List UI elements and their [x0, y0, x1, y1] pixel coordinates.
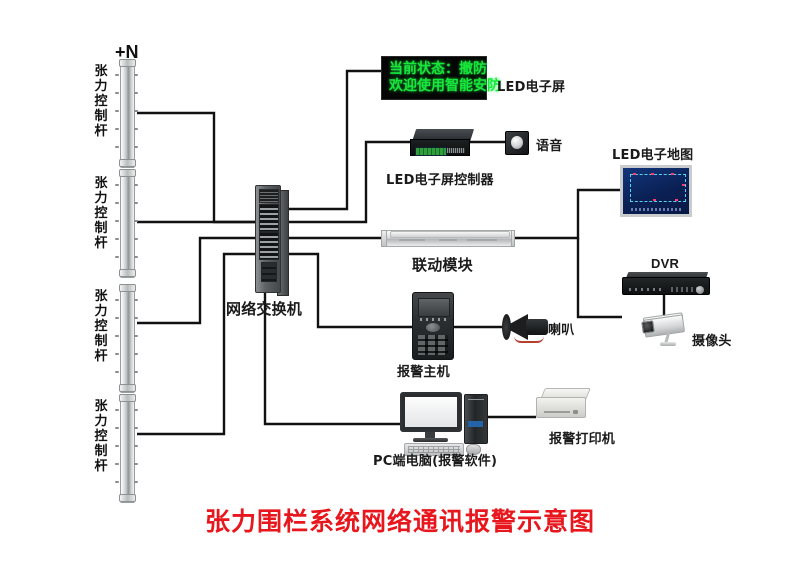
surveillance-camera[interactable] — [636, 315, 692, 349]
tension-control-pole-3-label: 张力控制杆 — [93, 289, 109, 364]
alarm-host-screen — [418, 298, 450, 317]
linkage-body — [386, 230, 512, 247]
printer-paper-slot — [544, 411, 570, 413]
alarm-printer-label: 报警打印机 — [549, 428, 615, 447]
controller-face — [410, 139, 470, 156]
pc-tower — [464, 394, 488, 444]
tension-control-pole-1-label: 张力控制杆 — [93, 64, 109, 139]
camera-base — [660, 342, 676, 346]
dvr-label: DVR — [651, 256, 679, 271]
pc-workstation[interactable] — [400, 392, 496, 456]
horn-barrel — [526, 319, 548, 335]
led-screen-controller[interactable] — [410, 129, 472, 155]
alarm-host-keypad[interactable] — [418, 335, 448, 355]
dvr-status-leds — [629, 288, 665, 291]
linkage-module[interactable] — [386, 228, 510, 248]
pc-monitor-foot — [413, 438, 448, 442]
voice-module[interactable] — [505, 131, 529, 155]
dvr-front-panel — [622, 277, 710, 295]
led-electronic-map[interactable] — [620, 165, 692, 217]
pole-graphic — [118, 60, 135, 166]
tension-control-pole-2-label: 张力控制杆 — [93, 176, 109, 251]
pole-graphic — [118, 395, 135, 501]
camera-lens — [641, 320, 655, 334]
led-screen-controller-label: LED电子屏控制器 — [386, 169, 494, 188]
switch-port-group-2 — [259, 232, 279, 260]
diagram-canvas: +N 张力控制杆 张力控制杆 — [0, 0, 800, 579]
network-switch-label: 网络交换机 — [226, 298, 302, 319]
switch-status-leds — [261, 262, 277, 282]
led-display-screen[interactable]: 当前状态：撤防 欢迎使用智能安防 — [381, 56, 487, 100]
horn-speaker-label: 喇叭 — [548, 319, 574, 338]
printer-button[interactable] — [573, 410, 578, 414]
horn-mouth — [502, 314, 511, 340]
pole-graphic — [118, 170, 135, 276]
alarm-host-indicators — [420, 318, 446, 321]
horn-wire — [514, 336, 544, 343]
linkage-module-label: 联动模块 — [412, 254, 473, 275]
network-switch[interactable] — [255, 185, 289, 295]
map-perimeter-path — [630, 174, 686, 202]
surveillance-camera-label: 摄像头 — [692, 330, 732, 349]
dvr-buttons — [671, 287, 697, 292]
led-display-screen-label: LED电子屏 — [497, 76, 565, 95]
led-electronic-map-label: LED电子地图 — [612, 144, 693, 163]
switch-vent — [259, 189, 279, 203]
alarm-host-label: 报警主机 — [397, 361, 450, 380]
switch-front-face — [255, 185, 281, 293]
pc-monitor — [400, 392, 462, 432]
alarm-host[interactable] — [412, 292, 454, 360]
alarm-printer[interactable] — [536, 388, 588, 418]
led-display-line-1: 当前状态：撤防 — [389, 61, 479, 78]
dvr-jog-knob — [696, 286, 704, 294]
linkage-top-lip — [390, 231, 510, 238]
voice-module-label: 语音 — [536, 135, 562, 154]
switch-port-group-1 — [259, 204, 279, 232]
tension-control-pole-4-label: 张力控制杆 — [93, 399, 109, 474]
dvr-recorder[interactable] — [622, 272, 708, 294]
diagram-title: 张力围栏系统网络通讯报警示意图 — [0, 502, 800, 538]
controller-pin-header — [447, 148, 465, 153]
map-caption-strip — [631, 208, 683, 211]
led-display-line-2: 欢迎使用智能安防 — [389, 78, 479, 95]
printer-body — [536, 397, 586, 418]
alarm-host-nav-pad[interactable] — [426, 323, 440, 332]
controller-terminal-block — [415, 147, 447, 156]
pc-workstation-label: PC端电脑(报警软件) — [373, 450, 497, 469]
pole-graphic — [118, 285, 135, 391]
